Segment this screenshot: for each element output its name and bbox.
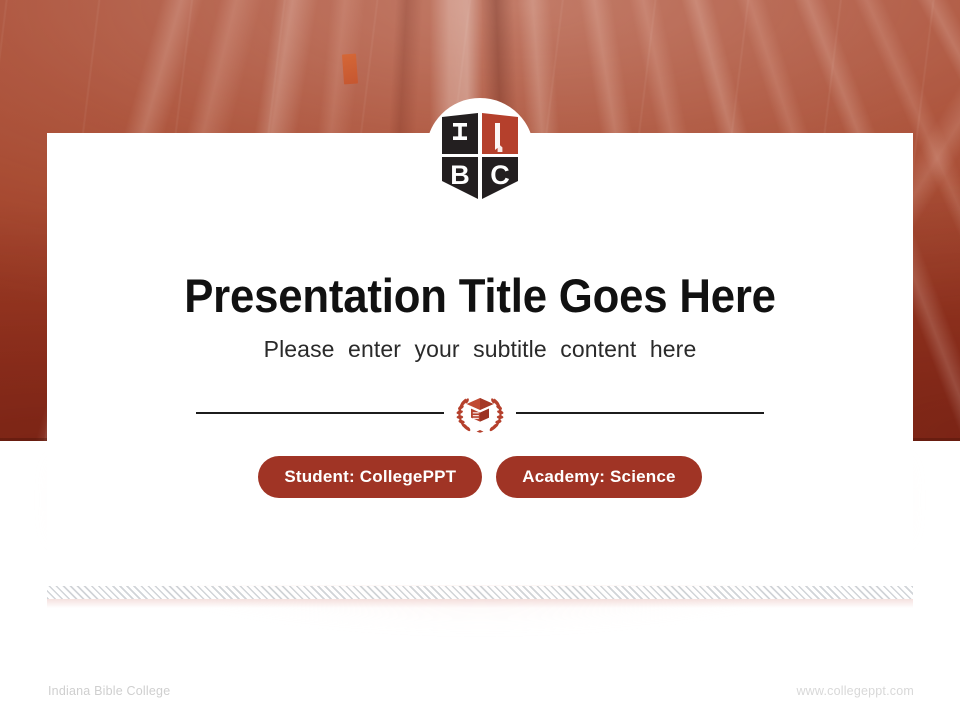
footer-organization: Indiana Bible College: [48, 684, 170, 698]
badge-group: Student: CollegePPT Academy: Science: [47, 456, 913, 498]
ibc-shield-logo: B C: [437, 109, 523, 203]
academy-badge[interactable]: Academy: Science: [496, 456, 701, 498]
hatch-strip: [47, 586, 913, 599]
slide-canvas: B C Presentation Title Goes Here Please …: [0, 0, 960, 720]
divider-line-right: [516, 412, 764, 414]
svg-text:B: B: [450, 160, 470, 190]
hatch-strip-shadow: [47, 599, 913, 608]
student-badge[interactable]: Student: CollegePPT: [258, 456, 482, 498]
svg-text:C: C: [490, 160, 510, 190]
page-title: Presentation Title Goes Here: [77, 271, 882, 320]
content-card: B C Presentation Title Goes Here Please …: [47, 133, 913, 585]
divider-row: [47, 385, 913, 441]
page-subtitle: Please enter your subtitle content here: [47, 336, 913, 363]
footer-website[interactable]: www.collegeppt.com: [796, 684, 914, 698]
laurel-wreath-graduation-emblem-icon: [444, 385, 516, 441]
photo-placard-detail: [342, 54, 358, 85]
divider-line-left: [196, 412, 444, 414]
